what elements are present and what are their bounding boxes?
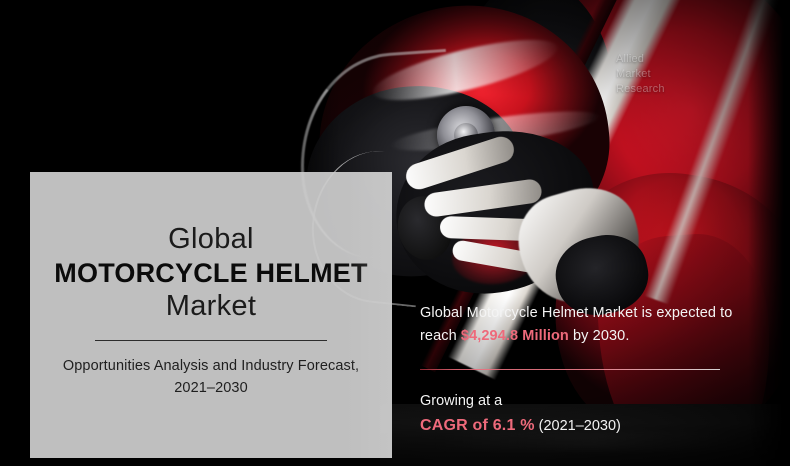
title-subtitle: Opportunities Analysis and Industry Fore… xyxy=(46,356,376,400)
panel-edge-fade xyxy=(346,172,392,458)
title-suffix: Market xyxy=(166,291,256,322)
title-eyebrow: Global xyxy=(168,224,254,254)
page-title: MOTORCYCLE HELMET xyxy=(54,258,367,288)
cagr-period: (2021–2030) xyxy=(535,418,621,434)
market-value-suffix: by 2030. xyxy=(569,328,630,344)
cagr-figure: CAGR of 6.1 % xyxy=(420,417,535,434)
statistics-divider xyxy=(420,369,720,370)
title-divider xyxy=(95,340,327,341)
title-panel: Global MOTORCYCLE HELMET Market Opportun… xyxy=(30,172,392,458)
cagr-statement: CAGR of 6.1 % (2021–2030) xyxy=(420,415,770,437)
market-value-figure: $4,294.8 Million xyxy=(461,328,569,344)
market-value-statement: Global Motorcycle Helmet Market is expec… xyxy=(420,302,770,349)
growth-label: Growing at a xyxy=(420,392,770,412)
statistics-block: Global Motorcycle Helmet Market is expec… xyxy=(420,302,770,436)
infographic-canvas: Allied Market Research Global MOTORCYCLE… xyxy=(0,0,790,466)
